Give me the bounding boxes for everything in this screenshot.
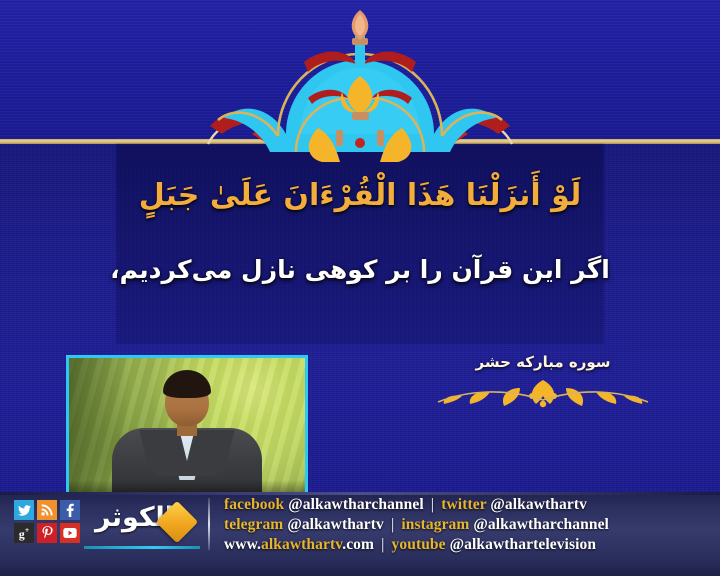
- twitter-icon[interactable]: [14, 500, 34, 520]
- twitter-handle[interactable]: @alkawthartv: [490, 496, 587, 513]
- twitter-label: twitter: [441, 496, 486, 513]
- presenter-video-inset[interactable]: [66, 355, 308, 501]
- row2-separator: |: [388, 516, 398, 533]
- footer-vertical-divider: [208, 498, 210, 550]
- pinterest-icon[interactable]: [37, 523, 57, 543]
- facebook-handle[interactable]: @alkawtharchannel: [288, 496, 424, 513]
- facebook-label: facebook: [224, 496, 284, 513]
- verse-backdrop-plate: [116, 144, 604, 344]
- rss-icon[interactable]: [37, 500, 57, 520]
- website-prefix: www.: [224, 536, 261, 553]
- googleplus-icon[interactable]: g+: [14, 523, 34, 543]
- islamic-floral-ornament-icon: [200, 2, 520, 162]
- handles-row-3: www.alkawthartv.com | youtube @alkawthar…: [224, 535, 716, 555]
- youtube-handle[interactable]: @alkawthartelevision: [450, 536, 596, 553]
- facebook-icon[interactable]: [60, 500, 80, 520]
- handles-row-2: telegram @alkawthartv | instagram @alkaw…: [224, 515, 716, 535]
- social-icons-group: g+: [14, 500, 80, 546]
- row1-separator: |: [428, 496, 438, 513]
- youtube-icon[interactable]: [60, 523, 80, 543]
- islamic-scroll-ornament-icon: [428, 366, 658, 410]
- surah-name-badge: سوره مبارکه حشر: [428, 352, 658, 410]
- instagram-label: instagram: [401, 516, 469, 533]
- channel-footer-bar: g+ الکوثر facebook @alkawtharchannel | t…: [0, 492, 720, 576]
- website-tld: .com: [342, 536, 374, 553]
- telegram-handle[interactable]: @alkawthartv: [287, 516, 384, 533]
- alkawthar-logo[interactable]: الکوثر: [84, 498, 200, 550]
- row3-separator: |: [378, 536, 388, 553]
- instagram-handle[interactable]: @alkawtharchannel: [473, 516, 609, 533]
- quran-verse-translation-persian: اگر این قرآن را بر کوهی نازل می‌کردیم،: [0, 255, 720, 284]
- social-handles-block: facebook @alkawtharchannel | twitter @al…: [224, 495, 716, 555]
- telegram-label: telegram: [224, 516, 283, 533]
- youtube-label: youtube: [392, 536, 446, 553]
- handles-row-1: facebook @alkawtharchannel | twitter @al…: [224, 495, 716, 515]
- logo-underline: [84, 546, 200, 549]
- broadcast-screen: لَوْ أَنزَلْنَا هَذَا الْقُرْءَانَ عَلَى…: [0, 0, 720, 576]
- quran-verse-arabic: لَوْ أَنزَلْنَا هَذَا الْقُرْءَانَ عَلَى…: [0, 178, 720, 213]
- website-domain[interactable]: alkawthartv: [261, 536, 342, 553]
